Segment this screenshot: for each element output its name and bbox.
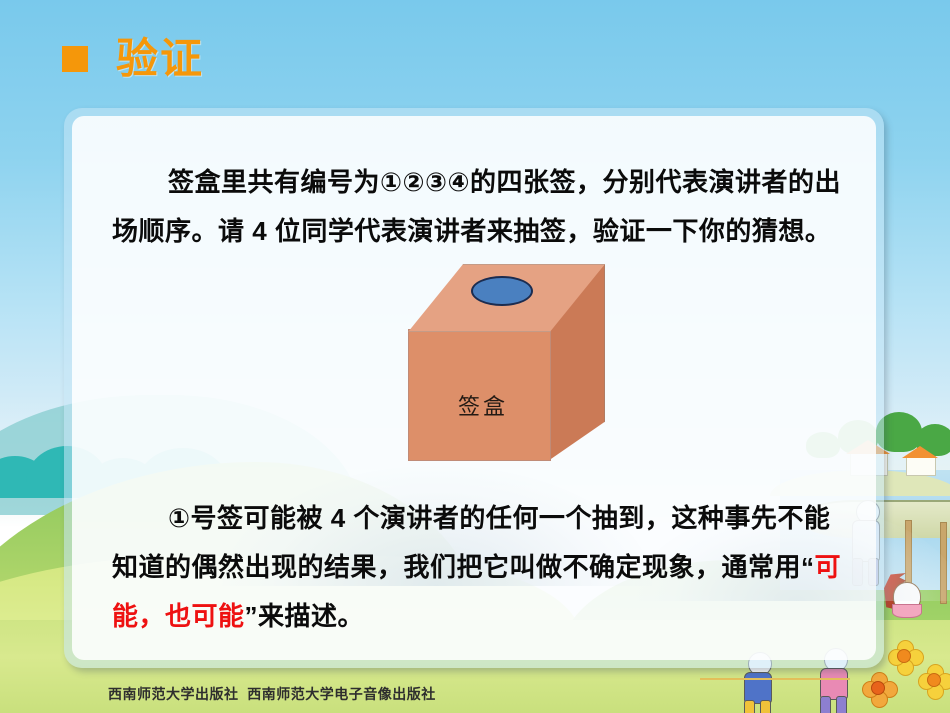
fence-icon: [905, 520, 912, 606]
ellipse-opening-icon: [471, 276, 533, 306]
lot-box-illustration: 签盒: [408, 264, 628, 462]
flower-icon: [918, 664, 950, 698]
tree-icon: [916, 424, 950, 456]
conclusion-text-before: ①号签可能被 4 个演讲者的任何一个抽到，这种事先不能知道的偶然出现的结果，我们…: [112, 503, 830, 582]
house-icon: [906, 456, 936, 476]
box-label: 签盒: [428, 389, 538, 421]
paragraph-conclusion: ①号签可能被 4 个演讲者的任何一个抽到，这种事先不能知道的偶然出现的结果，我们…: [112, 494, 848, 641]
fence-icon: [940, 522, 947, 604]
page-title: 验证: [116, 38, 204, 80]
flower-icon: [862, 672, 896, 706]
square-bullet-icon: [62, 46, 88, 72]
publisher-footer: 西南师范大学出版社 西南师范大学电子音像出版社: [108, 684, 436, 704]
content-card-inner: 签盒里共有编号为①②③④的四张签，分别代表演讲者的出场顺序。请 4 位同学代表演…: [72, 116, 876, 660]
paragraph-problem-statement: 签盒里共有编号为①②③④的四张签，分别代表演讲者的出场顺序。请 4 位同学代表演…: [112, 158, 842, 256]
content-card: 签盒里共有编号为①②③④的四张签，分别代表演讲者的出场顺序。请 4 位同学代表演…: [64, 108, 884, 668]
bush-icon: [0, 456, 50, 498]
flower-icon: [888, 640, 922, 674]
house-roof-icon: [902, 446, 938, 458]
conclusion-text-after: ”来描述。: [245, 601, 365, 631]
slide-heading: 验证: [0, 30, 204, 88]
slide-canvas: 验证 签盒里共有编号为①②③④的四张签，分别代表演讲者的出场顺序。请 4 位同学…: [0, 0, 950, 713]
